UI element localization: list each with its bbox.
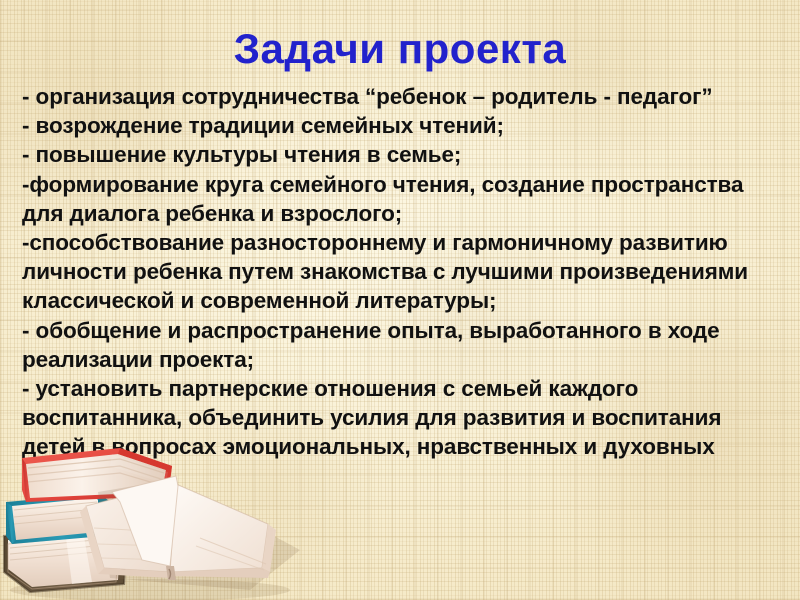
list-item: классической и современной литературы; bbox=[22, 286, 782, 315]
list-item: - обобщение и распространение опыта, выр… bbox=[22, 316, 782, 345]
list-item: - установить партнерские отношения с сем… bbox=[22, 374, 782, 403]
slide-content-layer: Задачи проекта - организация сотрудничес… bbox=[0, 0, 800, 600]
list-item: личности ребенка путем знакомства с лучш… bbox=[22, 257, 782, 286]
list-item: для диалога ребенка и взрослого; bbox=[22, 199, 782, 228]
list-item: -формирование круга семейного чтения, со… bbox=[22, 170, 782, 199]
list-item: воспитанника, объединить усилия для разв… bbox=[22, 403, 782, 432]
slide-canvas: Задачи проекта - организация сотрудничес… bbox=[0, 0, 800, 600]
objectives-list: - организация сотрудничества “ребенок – … bbox=[22, 82, 782, 491]
list-item: реализации проекта; bbox=[22, 345, 782, 374]
open-book bbox=[80, 476, 300, 590]
list-item: - возрождение традиции семейных чтений; bbox=[22, 111, 782, 140]
page-title: Задачи проекта bbox=[0, 24, 800, 74]
list-item: - организация сотрудничества “ребенок – … bbox=[22, 82, 782, 111]
books-illustration bbox=[0, 440, 380, 600]
list-item: - повышение культуры чтения в семье; bbox=[22, 140, 782, 169]
list-item: -способствование разностороннему и гармо… bbox=[22, 228, 782, 257]
